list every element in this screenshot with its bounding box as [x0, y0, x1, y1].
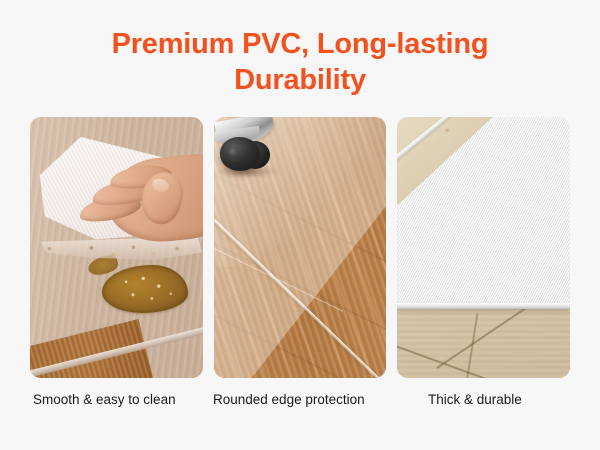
mat-thickness-edge	[397, 303, 570, 309]
page-title: Premium PVC, Long-lasting Durability	[0, 26, 600, 98]
feature-image-smooth-easy-to-clean	[30, 117, 203, 378]
caster-wheel-hub	[228, 147, 239, 158]
black-caster-wheel	[220, 137, 260, 171]
panel-caption-thick-durable: Thick & durable	[428, 390, 522, 410]
caption-row: Smooth & easy to clean Rounded edge prot…	[30, 390, 570, 414]
feature-image-rounded-edge-protection	[214, 117, 387, 378]
panel-caption-rounded-edge-protection: Rounded edge protection	[213, 390, 365, 410]
feature-image-thick-durable	[397, 117, 570, 378]
page-title-line-2: Durability	[0, 62, 600, 98]
panel-caption-smooth-easy-to-clean: Smooth & easy to clean	[33, 390, 176, 410]
feature-panel-strip	[30, 117, 570, 378]
page-title-line-1: Premium PVC, Long-lasting	[0, 26, 600, 62]
